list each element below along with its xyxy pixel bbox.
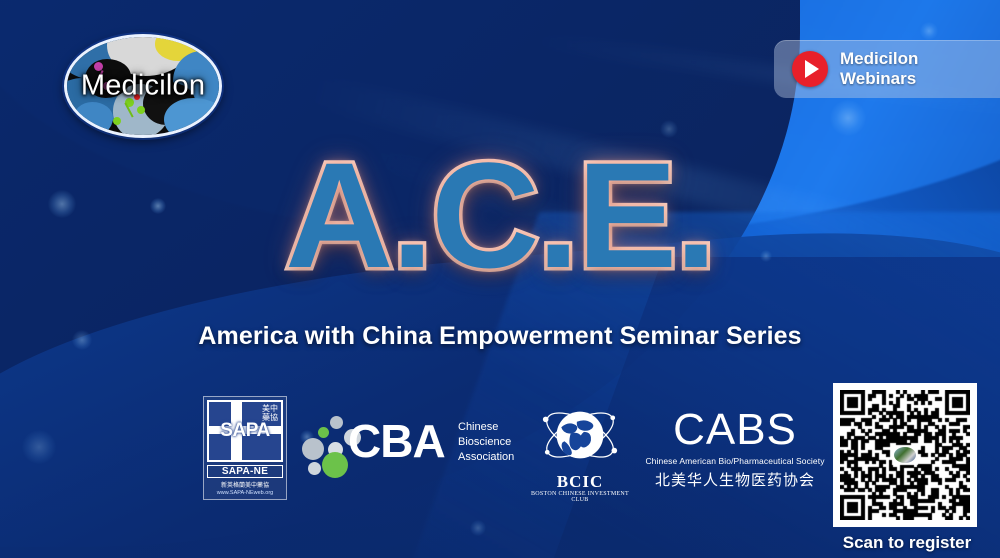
bcic-full-name: BOSTON CHINESE INVESTMENT CLUB xyxy=(525,491,635,503)
cabs-chinese-name: 北美华人生物医药协会 xyxy=(645,469,825,490)
partner-logo-bcic[interactable]: BCIC BOSTON CHINESE INVESTMENT CLUB xyxy=(525,392,635,504)
cba-acronym: CBA xyxy=(348,418,445,464)
page-subtitle: America with China Empowerment Seminar S… xyxy=(0,322,1000,351)
partner-logo-sapa[interactable]: 美中 藥協 SAPA SAPA-NE 新英格蘭美中藥協 www.SAPA-NEw… xyxy=(203,396,287,500)
webinars-badge-line2: Webinars xyxy=(840,69,918,89)
sapa-website: www.SAPA-NEweb.org xyxy=(207,490,283,496)
partner-logo-cabs[interactable]: CABS Chinese American Bio/Pharmaceutical… xyxy=(645,408,825,490)
webinars-badge-line1: Medicilon xyxy=(840,49,918,69)
sapa-chapter-chinese: 新英格蘭美中藥協 xyxy=(207,480,283,489)
globe-icon xyxy=(541,396,619,474)
qr-caption: Scan to register xyxy=(833,533,981,553)
play-icon[interactable] xyxy=(792,51,828,87)
medicilon-webinars-badge[interactable]: Medicilon Webinars xyxy=(774,40,1000,98)
cba-full-name: Chinese Bioscience Association xyxy=(458,420,514,465)
qr-register-block[interactable]: Scan to register xyxy=(833,383,981,548)
sapa-emblem: 美中 藥協 SAPA xyxy=(207,400,283,462)
partner-logo-strip: 美中 藥協 SAPA SAPA-NE 新英格蘭美中藥協 www.SAPA-NEw… xyxy=(195,390,820,510)
partner-logo-cba[interactable]: CBA Chinese Bioscience Association xyxy=(300,412,515,484)
bokeh-dot xyxy=(22,430,56,464)
webinars-badge-label: Medicilon Webinars xyxy=(840,49,918,89)
medicilon-logo[interactable]: Medicilon xyxy=(64,34,222,138)
bokeh-dot xyxy=(830,100,866,136)
cabs-acronym: CABS xyxy=(645,408,825,452)
qr-code[interactable] xyxy=(833,383,977,527)
page-title: A.C.E. xyxy=(0,140,1000,290)
medicilon-logo-text: Medicilon xyxy=(67,70,219,103)
bokeh-dot xyxy=(470,520,486,536)
bokeh-dot xyxy=(920,22,938,40)
cabs-full-name: Chinese American Bio/Pharmaceutical Soci… xyxy=(645,456,825,466)
sapa-chapter-label: SAPA-NE xyxy=(207,465,283,478)
qr-center-logo xyxy=(893,446,917,464)
sapa-acronym: SAPA xyxy=(209,420,281,442)
ace-seminar-banner: Medicilon Medicilon Webinars A.C.E. Amer… xyxy=(0,0,1000,558)
bcic-acronym: BCIC xyxy=(525,472,635,492)
